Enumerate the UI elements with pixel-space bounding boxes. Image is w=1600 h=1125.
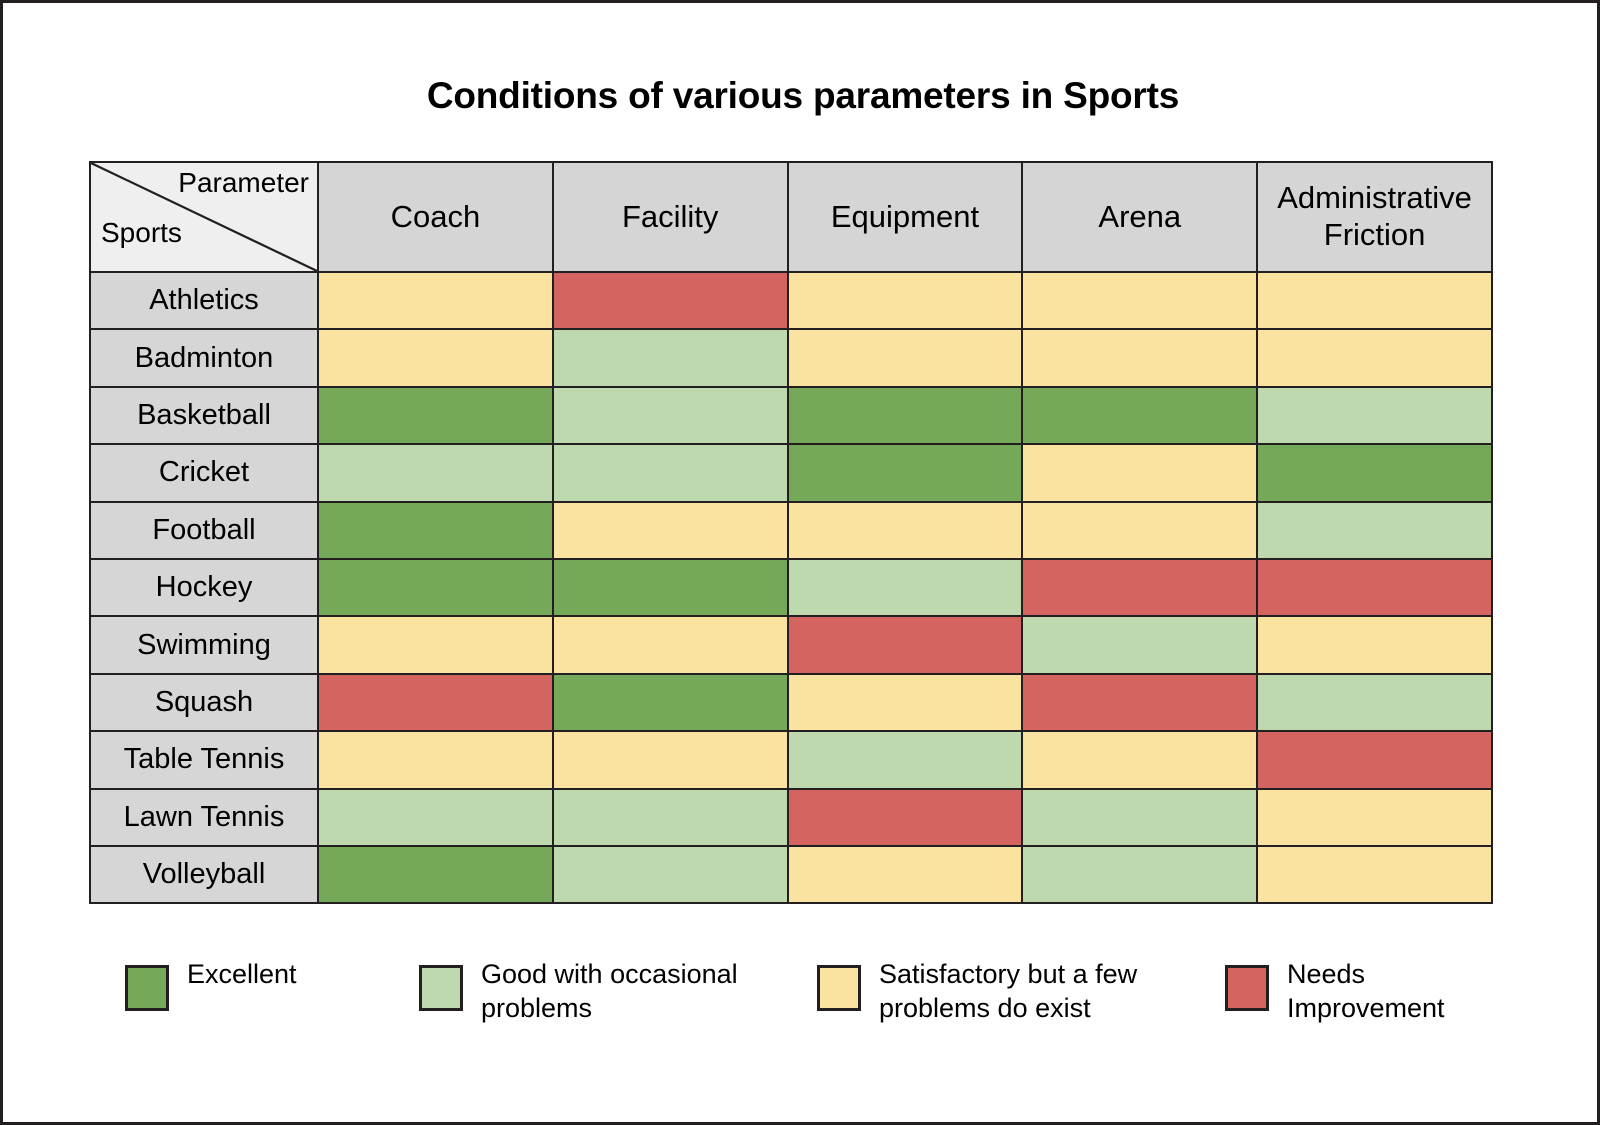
table-row: Swimming: [90, 616, 1492, 673]
cell-volleyball-coach: [318, 846, 553, 903]
cell-basketball-equipment: [788, 387, 1023, 444]
cell-badminton-arena: [1022, 329, 1257, 386]
cell-basketball-arena: [1022, 387, 1257, 444]
row-label-badminton: Badminton: [90, 329, 318, 386]
cell-squash-equipment: [788, 674, 1023, 731]
cell-squash-facility: [553, 674, 788, 731]
table-row: Athletics: [90, 272, 1492, 329]
table-row: Football: [90, 502, 1492, 559]
legend-swatch-satisfactory: [817, 965, 861, 1011]
table-row: Badminton: [90, 329, 1492, 386]
row-label-cricket: Cricket: [90, 444, 318, 501]
cell-basketball-coach: [318, 387, 553, 444]
cell-cricket-equipment: [788, 444, 1023, 501]
row-label-table-tennis: Table Tennis: [90, 731, 318, 788]
cell-football-administrative-friction: [1257, 502, 1492, 559]
cell-lawn-tennis-administrative-friction: [1257, 789, 1492, 846]
legend: Excellent Good with occasional problems …: [89, 958, 1491, 1068]
cell-lawn-tennis-coach: [318, 789, 553, 846]
table-header-row: Parameter Sports Coach Facility Equipmen…: [90, 162, 1492, 272]
legend-swatch-good: [419, 965, 463, 1011]
cell-cricket-arena: [1022, 444, 1257, 501]
row-label-athletics: Athletics: [90, 272, 318, 329]
cell-athletics-arena: [1022, 272, 1257, 329]
cell-athletics-administrative-friction: [1257, 272, 1492, 329]
legend-label: Excellent: [187, 958, 297, 992]
legend-item: Satisfactory but a few problems do exist: [817, 958, 1174, 1026]
table-body: AthleticsBadmintonBasketballCricketFootb…: [90, 272, 1492, 903]
cell-lawn-tennis-facility: [553, 789, 788, 846]
cell-badminton-facility: [553, 329, 788, 386]
table-row: Volleyball: [90, 846, 1492, 903]
cell-badminton-coach: [318, 329, 553, 386]
legend-swatch-needs-improvement: [1225, 965, 1269, 1011]
cell-badminton-equipment: [788, 329, 1023, 386]
column-header-equipment: Equipment: [788, 162, 1023, 272]
cell-cricket-administrative-friction: [1257, 444, 1492, 501]
column-header-arena: Arena: [1022, 162, 1257, 272]
cell-swimming-facility: [553, 616, 788, 673]
cell-swimming-coach: [318, 616, 553, 673]
cell-basketball-facility: [553, 387, 788, 444]
cell-table-tennis-administrative-friction: [1257, 731, 1492, 788]
cell-table-tennis-facility: [553, 731, 788, 788]
cell-athletics-coach: [318, 272, 553, 329]
column-header-admin-friction: Administrative Friction: [1257, 162, 1492, 272]
table-row: Basketball: [90, 387, 1492, 444]
cell-squash-administrative-friction: [1257, 674, 1492, 731]
legend-item: Excellent: [125, 958, 297, 1011]
figure-canvas: Conditions of various parameters in Spor…: [0, 0, 1600, 1125]
legend-label: Needs Improvement: [1287, 958, 1491, 1026]
cell-volleyball-administrative-friction: [1257, 846, 1492, 903]
row-label-football: Football: [90, 502, 318, 559]
cell-hockey-administrative-friction: [1257, 559, 1492, 616]
legend-swatch-excellent: [125, 965, 169, 1011]
corner-sports-label: Sports: [101, 219, 182, 247]
legend-label: Satisfactory but a few problems do exist: [879, 958, 1174, 1026]
cell-athletics-equipment: [788, 272, 1023, 329]
cell-cricket-coach: [318, 444, 553, 501]
row-label-hockey: Hockey: [90, 559, 318, 616]
cell-squash-arena: [1022, 674, 1257, 731]
row-label-squash: Squash: [90, 674, 318, 731]
column-header-facility: Facility: [553, 162, 788, 272]
cell-lawn-tennis-equipment: [788, 789, 1023, 846]
cell-athletics-facility: [553, 272, 788, 329]
cell-hockey-arena: [1022, 559, 1257, 616]
cell-lawn-tennis-arena: [1022, 789, 1257, 846]
cell-hockey-facility: [553, 559, 788, 616]
cell-swimming-administrative-friction: [1257, 616, 1492, 673]
cell-swimming-equipment: [788, 616, 1023, 673]
table-row: Table Tennis: [90, 731, 1492, 788]
cell-hockey-coach: [318, 559, 553, 616]
cell-volleyball-arena: [1022, 846, 1257, 903]
column-header-coach: Coach: [318, 162, 553, 272]
table-row: Squash: [90, 674, 1492, 731]
cell-swimming-arena: [1022, 616, 1257, 673]
legend-item: Good with occasional problems: [419, 958, 766, 1026]
cell-cricket-facility: [553, 444, 788, 501]
cell-table-tennis-arena: [1022, 731, 1257, 788]
cell-squash-coach: [318, 674, 553, 731]
conditions-matrix-table: Parameter Sports Coach Facility Equipmen…: [89, 161, 1493, 904]
corner-axis-cell: Parameter Sports: [90, 162, 318, 272]
corner-parameter-label: Parameter: [178, 169, 309, 197]
row-label-swimming: Swimming: [90, 616, 318, 673]
row-label-basketball: Basketball: [90, 387, 318, 444]
cell-table-tennis-coach: [318, 731, 553, 788]
table-row: Cricket: [90, 444, 1492, 501]
cell-football-equipment: [788, 502, 1023, 559]
row-label-lawn-tennis: Lawn Tennis: [90, 789, 318, 846]
cell-volleyball-facility: [553, 846, 788, 903]
cell-basketball-administrative-friction: [1257, 387, 1492, 444]
row-label-volleyball: Volleyball: [90, 846, 318, 903]
cell-volleyball-equipment: [788, 846, 1023, 903]
cell-hockey-equipment: [788, 559, 1023, 616]
cell-table-tennis-equipment: [788, 731, 1023, 788]
cell-football-facility: [553, 502, 788, 559]
table-row: Hockey: [90, 559, 1492, 616]
legend-label: Good with occasional problems: [481, 958, 766, 1026]
cell-football-coach: [318, 502, 553, 559]
cell-football-arena: [1022, 502, 1257, 559]
table-row: Lawn Tennis: [90, 789, 1492, 846]
page-title: Conditions of various parameters in Spor…: [3, 75, 1600, 117]
legend-item: Needs Improvement: [1225, 958, 1491, 1026]
cell-badminton-administrative-friction: [1257, 329, 1492, 386]
